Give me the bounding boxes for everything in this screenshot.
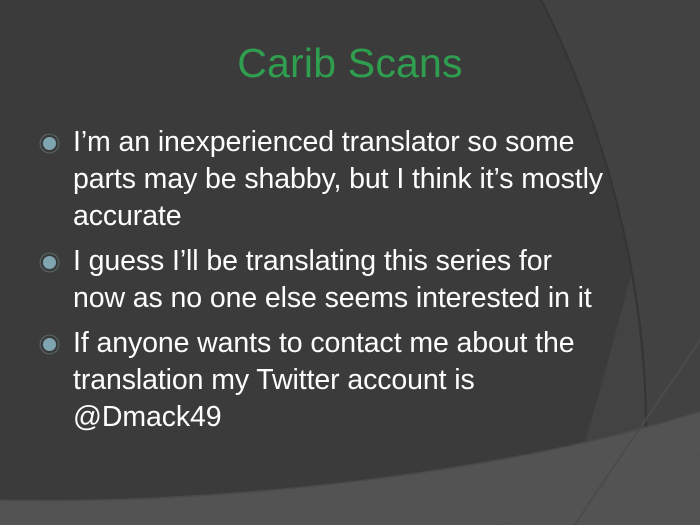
list-item: I guess I’ll be translating this series … xyxy=(40,243,610,317)
presentation-slide: Carib Scans I’m an inexperienced transla… xyxy=(0,0,700,525)
list-item: If anyone wants to contact me about the … xyxy=(40,325,610,436)
ring-bullet-icon xyxy=(43,137,56,150)
list-item-text: I guess I’ll be translating this series … xyxy=(73,245,592,314)
ring-bullet-icon xyxy=(43,338,56,351)
bullet-list: I’m an inexperienced translator so some … xyxy=(40,124,610,436)
list-item-text: I’m an inexperienced translator so some … xyxy=(73,126,603,232)
page-title: Carib Scans xyxy=(0,38,700,88)
list-item-text: If anyone wants to contact me about the … xyxy=(73,327,575,433)
ring-bullet-icon xyxy=(43,256,56,269)
slide-content: Carib Scans I’m an inexperienced transla… xyxy=(0,0,700,525)
list-item: I’m an inexperienced translator so some … xyxy=(40,124,610,235)
